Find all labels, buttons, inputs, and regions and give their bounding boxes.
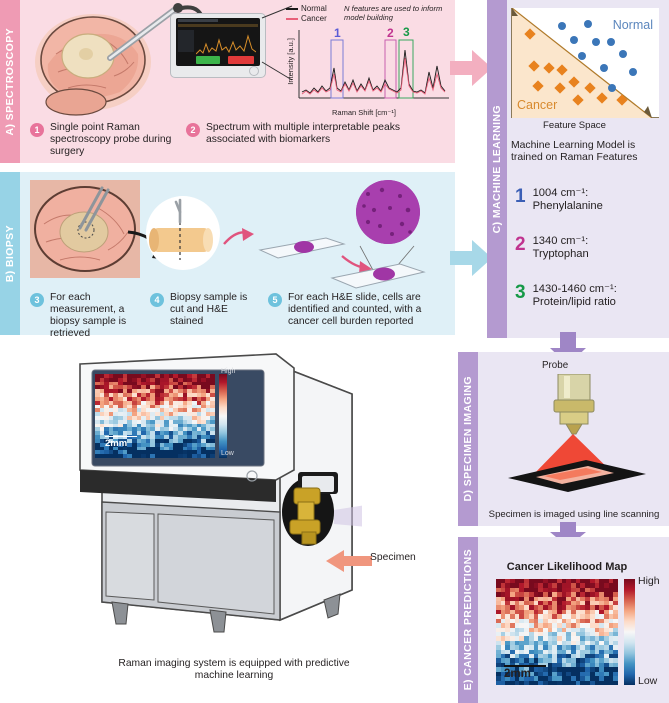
step-badge-2: 2 <box>186 123 200 137</box>
step-item-5: 5 For each H&E slide, cells are identifi… <box>268 292 438 328</box>
specimen-arrow <box>322 548 374 576</box>
raman-spectrum-chart: Normal Cancer N features are used to inf… <box>286 4 452 116</box>
step-badge-5: 5 <box>268 293 282 307</box>
step-badge-1: 1 <box>30 123 44 137</box>
legend-label-normal: Normal <box>301 4 327 13</box>
scatter-point-normal <box>607 38 615 46</box>
scatter-point-normal <box>570 36 578 44</box>
scatter-x-axis-label: Feature Space <box>543 120 606 131</box>
monitor-scalebar-label: 2mm <box>105 438 127 449</box>
scatter-point-normal <box>578 52 586 60</box>
ml-model-description: Machine Learning Model is trained on Ram… <box>511 140 663 165</box>
spectrum-note: N features are used to inform model buil… <box>344 4 448 22</box>
biomarker-item-2: 2 1340 cm⁻¹:Tryptophan <box>515 235 589 261</box>
step-text-4: Biopsy sample is cut and H&E stained <box>170 292 260 328</box>
panel-spectroscopy: A) SPECTROSCOPY <box>0 0 455 163</box>
monitor-colorbar <box>219 374 227 458</box>
spectrum-peak-label-2: 2 <box>387 26 394 40</box>
he-cell-closeup <box>356 180 420 244</box>
colorbar-high-label: High <box>638 575 660 587</box>
spectrum-legend: Normal Cancer <box>286 4 327 24</box>
scalebar-label: 2mm <box>504 668 531 680</box>
monitor-scalebar-line <box>105 436 137 437</box>
spectrum-traces <box>297 28 451 110</box>
biomarker-wavenumber-2: 1340 cm⁻¹: <box>533 235 589 247</box>
scatter-point-normal <box>629 68 637 76</box>
panel-cancer-predictions-tab-label: E) CANCER PREDICTIONS <box>462 549 474 690</box>
biomarker-wavenumber-1: 1004 cm⁻¹: <box>533 187 589 199</box>
legend-swatch-normal <box>286 8 298 10</box>
panel-biopsy-tab: B) BIOPSY <box>0 172 20 335</box>
panel-cancer-predictions: E) CANCER PREDICTIONS Cancer Likelihood … <box>458 537 669 703</box>
scatter-point-normal <box>592 38 600 46</box>
spectrum-y-axis-label: Intensity [a.u.] <box>286 38 295 85</box>
step-text-5: For each H&E slide, cells are identified… <box>288 292 438 328</box>
scatter-label-cancer: Cancer <box>517 98 557 112</box>
specimen-imaging-caption: Specimen is imaged using line scanning <box>482 509 666 520</box>
monitor-high-label: High <box>221 368 235 375</box>
step-text-1: Single point Raman spectroscopy probe du… <box>50 122 180 158</box>
panel-specimen-imaging-tab-label: D) SPECIMEN IMAGING <box>462 376 474 501</box>
legend-swatch-cancer <box>286 18 298 20</box>
specimen-label: Specimen <box>370 552 416 563</box>
scatter-point-normal <box>608 84 616 92</box>
arrow-sample-to-slide <box>222 226 256 252</box>
biomarker-name-2: Tryptophan <box>533 248 589 260</box>
step-item-3: 3 For each measurement, a biopsy sample … <box>30 292 148 340</box>
colorbar <box>624 579 635 685</box>
biomarker-wavenumber-3: 1430-1460 cm⁻¹: <box>533 283 617 295</box>
tablet-normal-indicator <box>196 56 220 64</box>
biomarker-number-2: 2 <box>515 235 526 254</box>
tablet-cancer-indicator <box>228 56 254 64</box>
biomarker-number-3: 3 <box>515 283 526 302</box>
biomarker-item-3: 3 1430-1460 cm⁻¹:Protein/lipid ratio <box>515 283 617 309</box>
panel-specimen-imaging: D) SPECIMEN IMAGING Probe Specimen is im… <box>458 352 669 526</box>
panel-spectroscopy-tab: A) SPECTROSCOPY <box>0 0 20 163</box>
cancer-likelihood-map-title: Cancer Likelihood Map <box>492 561 642 573</box>
step-item-1: 1 Single point Raman spectroscopy probe … <box>30 122 180 158</box>
biomarker-item-1: 1 1004 cm⁻¹:Phenylalanine <box>515 187 603 213</box>
step-badge-3: 3 <box>30 293 44 307</box>
scatter-point-normal <box>619 50 627 58</box>
biomarker-name-3: Protein/lipid ratio <box>533 296 616 308</box>
step-badge-4: 4 <box>150 293 164 307</box>
spectrum-peak-label-1: 1 <box>334 26 341 40</box>
scalebar-line <box>504 665 546 667</box>
instrument-caption-line1: Raman imaging system is equipped with pr… <box>44 658 424 670</box>
panel-machine-learning-tab: C) MACHINE LEARNING <box>487 0 507 338</box>
probe-line-scan-illustration <box>502 374 652 492</box>
tablet-device <box>170 13 266 78</box>
panel-specimen-imaging-tab: D) SPECIMEN IMAGING <box>458 352 478 526</box>
panel-spectroscopy-tab-label: A) SPECTROSCOPY <box>4 28 16 136</box>
step-item-2: 2 Spectrum with multiple interpretable p… <box>186 122 432 146</box>
he-slide-2 <box>330 236 426 296</box>
scatter-point-normal <box>600 64 608 72</box>
biomarker-name-1: Phenylalanine <box>533 200 603 212</box>
feature-space-scatter-plot: Normal Cancer <box>511 8 659 118</box>
legend-label-cancer: Cancer <box>301 14 327 23</box>
tablet-screen <box>176 18 260 66</box>
scatter-point-normal <box>584 20 592 28</box>
step-text-2: Spectrum with multiple interpretable pea… <box>206 122 432 146</box>
panel-biopsy-tab-label: B) BIOPSY <box>4 225 16 282</box>
probe-label: Probe <box>542 360 568 371</box>
monitor-low-label: Low <box>221 450 234 457</box>
panel-cancer-predictions-tab: E) CANCER PREDICTIONS <box>458 537 478 703</box>
step-text-3: For each measurement, a biopsy sample is… <box>50 292 148 340</box>
colorbar-low-label: Low <box>638 675 657 687</box>
monitor-heatmap-wrap: High Low 2mm <box>95 374 241 458</box>
panel-biopsy: B) BIOPSY <box>0 172 455 335</box>
instrument-caption: Raman imaging system is equipped with pr… <box>44 658 424 682</box>
scatter-point-normal <box>558 22 566 30</box>
spectrum-peak-label-3: 3 <box>403 25 410 39</box>
panel-machine-learning: C) MACHINE LEARNING Normal Cancer Fea <box>487 0 669 338</box>
step-item-4: 4 Biopsy sample is cut and H&E stained <box>150 292 260 328</box>
panel-machine-learning-tab-label: C) MACHINE LEARNING <box>491 105 503 233</box>
biopsy-brain-illustration <box>30 180 140 278</box>
biomarker-number-1: 1 <box>515 187 526 206</box>
biopsy-sample-closeup <box>146 196 220 270</box>
scatter-label-normal: Normal <box>613 18 653 32</box>
instrument-caption-line2: machine learning <box>44 670 424 682</box>
